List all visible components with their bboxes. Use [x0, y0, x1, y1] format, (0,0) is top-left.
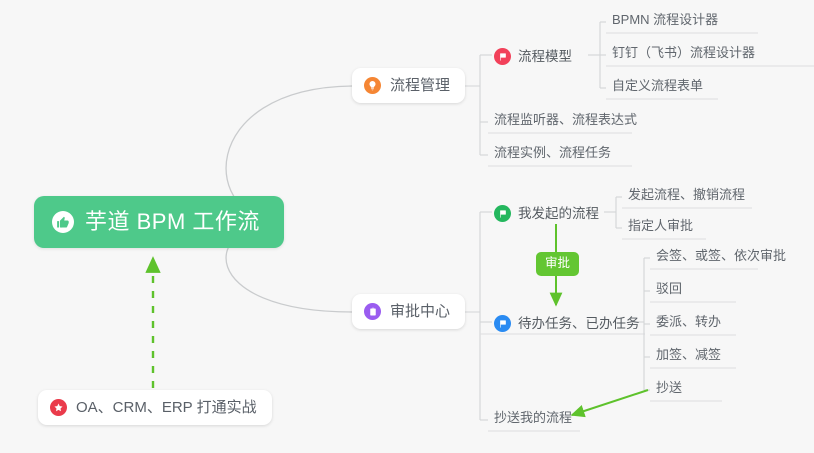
leaf-cc-to-me-flows[interactable]: 抄送我的流程: [488, 410, 578, 430]
mindmap-canvas: 芋道 BPM 工作流 流程管理 流程模型 BPMN 流程设计器 钉钉（飞书）流程…: [0, 0, 814, 453]
leaf-carbon-copy[interactable]: 抄送: [650, 380, 688, 400]
clipboard-icon: [364, 303, 381, 320]
root-label: 芋道 BPM 工作流: [85, 209, 260, 234]
leaf-add-remove-sign[interactable]: 加签、减签: [650, 347, 727, 367]
branch-flow-management[interactable]: 流程管理: [352, 68, 465, 103]
node-todo-done-tasks[interactable]: 待办任务、已办任务: [492, 311, 648, 337]
leaf-delegate-transfer[interactable]: 委派、转办: [650, 314, 727, 334]
leaf-start-cancel-flow[interactable]: 发起流程、撤销流程: [622, 187, 751, 207]
root-node[interactable]: 芋道 BPM 工作流: [34, 196, 284, 248]
approval-annotation-chip: 审批: [536, 252, 579, 276]
node-my-initiated-flows-label: 我发起的流程: [518, 206, 599, 222]
branch-approval-center[interactable]: 审批中心: [352, 294, 465, 329]
flag-green-icon: [494, 205, 511, 222]
leaf-dingtalk-designer[interactable]: 钉钉（飞书）流程设计器: [606, 45, 761, 65]
lightbulb-icon: [364, 77, 381, 94]
leaf-flow-instance-task[interactable]: 流程实例、流程任务: [488, 145, 617, 165]
node-todo-done-tasks-label: 待办任务、已办任务: [518, 316, 640, 332]
node-flow-model-label: 流程模型: [518, 49, 572, 65]
node-flow-model[interactable]: 流程模型: [492, 44, 580, 70]
flag-red-icon: [494, 48, 511, 65]
node-my-initiated-flows[interactable]: 我发起的流程: [492, 201, 607, 227]
star-icon: [50, 399, 67, 416]
leaf-bpmn-designer[interactable]: BPMN 流程设计器: [606, 12, 724, 32]
leaf-countersign-modes[interactable]: 会签、或签、依次审批: [650, 248, 792, 268]
leaf-assignee-approval[interactable]: 指定人审批: [622, 218, 699, 238]
leaf-flow-listener-expression[interactable]: 流程监听器、流程表达式: [488, 112, 643, 132]
thumbs-up-icon: [52, 211, 74, 233]
node-integration-practice[interactable]: OA、CRM、ERP 打通实战: [38, 390, 272, 425]
branch-flow-management-label: 流程管理: [390, 77, 450, 94]
arrow-cc-to-ccflow: [572, 390, 648, 415]
branch-approval-center-label: 审批中心: [390, 303, 450, 320]
leaf-custom-form[interactable]: 自定义流程表单: [606, 78, 709, 98]
leaf-reject[interactable]: 驳回: [650, 281, 688, 301]
node-integration-practice-label: OA、CRM、ERP 打通实战: [76, 399, 257, 416]
flag-blue-icon: [494, 315, 511, 332]
